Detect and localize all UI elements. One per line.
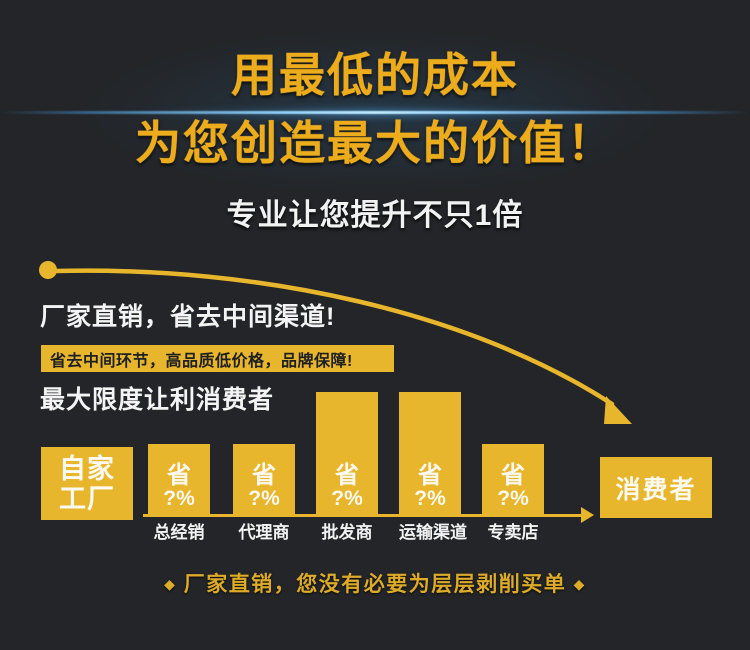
bar-label: 专卖店 (477, 518, 549, 543)
bar-save-percent: ?% (163, 488, 195, 510)
factory-box: 自家 工厂 (41, 447, 133, 520)
diamond-left-icon: ◆ (164, 576, 176, 592)
bar-label: 总经销 (143, 518, 215, 543)
footer-slogan: ◆ 厂家直销，您没有必要为层层剥削买单 ◆ (0, 568, 750, 598)
headline-line-1: 用最低的成本 (0, 50, 750, 100)
middleman-bar: 省?% (316, 392, 378, 514)
factory-label-line-2: 工厂 (59, 484, 115, 514)
bar-label: 代理商 (228, 518, 300, 543)
bar-save-percent: ?% (331, 488, 363, 510)
middleman-bar: 省?% (233, 444, 295, 514)
bar-save-percent: ?% (414, 488, 446, 510)
diamond-right-icon: ◆ (574, 576, 586, 592)
bar-save-char: 省 (335, 463, 359, 488)
footer-text: 厂家直销，您没有必要为层层剥削买单 (184, 573, 567, 596)
factory-label-line-1: 自家 (59, 454, 115, 484)
bar-label: 批发商 (311, 518, 383, 543)
flow-axis-arrowhead (581, 507, 594, 523)
middleman-bar: 省?% (148, 444, 210, 514)
pitch-highlight-bar: 省去中间环节，高品质低价格，品牌保障! (41, 345, 394, 372)
headline-subtitle: 专业让您提升不只1倍 (0, 190, 750, 234)
glow-core-line (0, 111, 750, 114)
bar-save-char: 省 (252, 463, 276, 488)
consumer-box: 消费者 (600, 457, 712, 518)
middleman-bar: 省?% (399, 392, 461, 514)
curve-arrowhead (604, 396, 632, 424)
flow-axis-line (143, 514, 583, 517)
bar-save-char: 省 (418, 463, 442, 488)
bar-save-char: 省 (167, 463, 191, 488)
promo-banner: 用最低的成本 为您创造最大的价值！ 专业让您提升不只1倍 厂家直销，省去中间渠道… (0, 0, 750, 650)
pitch-subheadline: 最大限度让利消费者 (40, 380, 274, 416)
headline-line-2: 为您创造最大的价值！ (0, 118, 750, 168)
curve-origin-dot (39, 261, 57, 279)
bar-label: 运输渠道 (389, 518, 477, 543)
middleman-bar: 省?% (482, 444, 544, 514)
pitch-headline: 厂家直销，省去中间渠道! (40, 297, 335, 333)
bar-save-char: 省 (501, 463, 525, 488)
bar-save-percent: ?% (248, 488, 280, 510)
bar-save-percent: ?% (497, 488, 529, 510)
